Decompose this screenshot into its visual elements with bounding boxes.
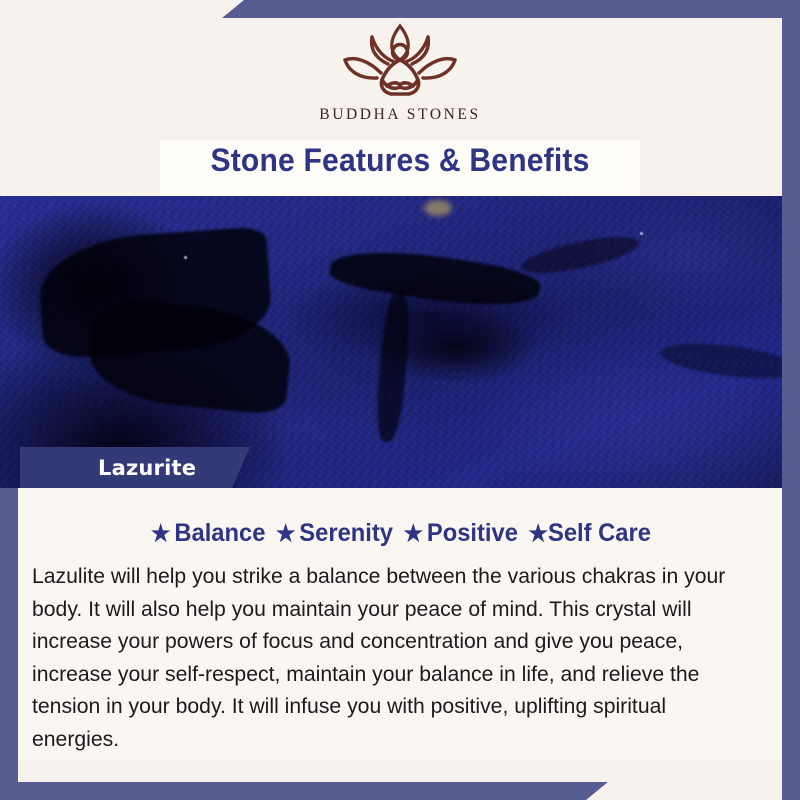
keyword-label: Self Care — [548, 519, 651, 547]
star-icon: ★ — [151, 520, 171, 546]
rock-sparkle — [184, 256, 187, 259]
page-title: Stone Features & Benefits — [24, 142, 776, 179]
lotus-meditation-icon — [325, 16, 475, 104]
brand-logo: BUDDHA STONES — [0, 16, 800, 124]
frame-right-border — [782, 0, 800, 800]
frame-left-border — [0, 488, 18, 800]
stone-name-label: Lazurite — [98, 456, 196, 480]
rock-ochre-speck — [424, 200, 452, 216]
rock-sparkle — [640, 232, 643, 235]
keyword-item: ★Serenity — [274, 519, 402, 548]
brand-name: BUDDHA STONES — [319, 106, 480, 124]
keyword-label: Balance — [174, 519, 265, 547]
star-icon: ★ — [528, 520, 548, 546]
frame-top-accent — [222, 0, 782, 18]
frame-left-top — [0, 0, 18, 196]
star-icon: ★ — [403, 520, 423, 546]
keyword-item: ★Positive — [402, 519, 527, 548]
lazurite-rock-photo — [0, 196, 800, 488]
description-card: ★Balance★Serenity★Positive★Self Care Laz… — [18, 488, 782, 782]
stone-name-tag: Lazurite — [20, 447, 250, 488]
keyword-list: ★Balance★Serenity★Positive★Self Care — [37, 519, 763, 548]
poster-canvas: BUDDHA STONES Stone Features & Benefits … — [0, 0, 800, 800]
keyword-label: Positive — [427, 519, 518, 547]
frame-bottom-accent — [0, 782, 608, 800]
star-icon: ★ — [276, 520, 296, 546]
card-bottom-spacer — [18, 760, 782, 782]
keyword-label: Serenity — [299, 519, 393, 547]
description-text: Lazulite will help you strike a balance … — [32, 560, 743, 755]
keyword-item: ★Balance — [149, 519, 274, 548]
keyword-item: ★Self Care — [526, 519, 650, 548]
